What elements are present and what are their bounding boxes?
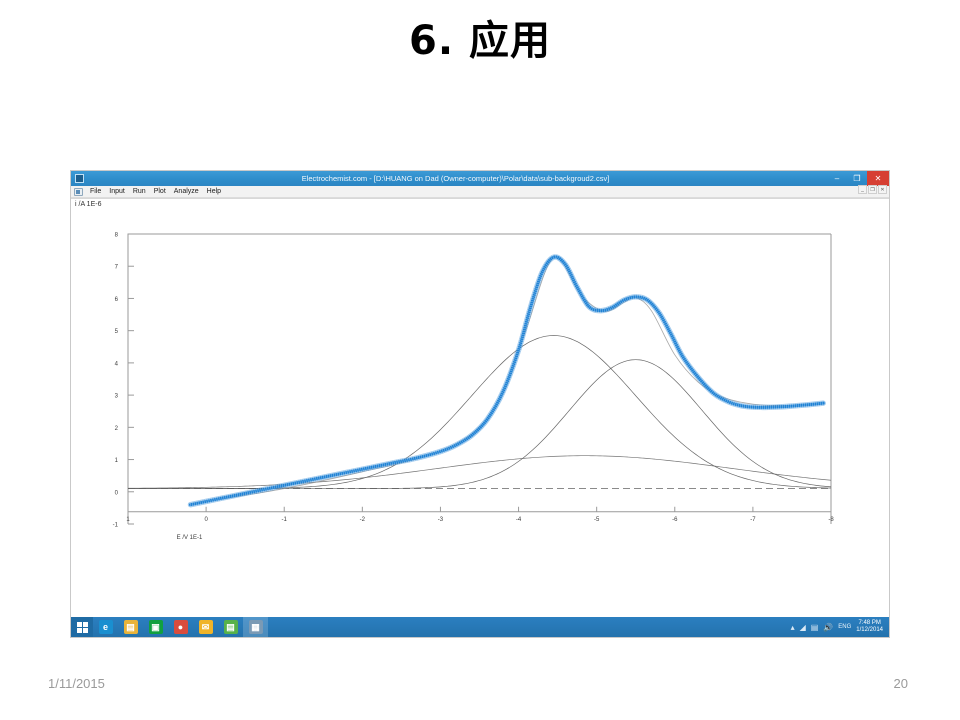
taskbar-item-windows-store[interactable]: ▣	[143, 617, 168, 637]
windows-logo-icon	[77, 622, 88, 633]
svg-text:2: 2	[115, 426, 119, 432]
plot-client-area: i /A 1E-6 -101234567810-1-2-3-4-5-6-7-8E…	[71, 198, 889, 618]
taskbar-item-electrochemist[interactable]: ▦	[243, 617, 268, 637]
electrochemist-icon: ▦	[249, 620, 263, 634]
clock-date: 1/12/2014	[856, 627, 883, 633]
menu-item-help[interactable]: Help	[203, 188, 225, 195]
menu-item-analyze[interactable]: Analyze	[170, 188, 203, 195]
mdi-window-controls: _ ❐ ✕	[858, 185, 887, 194]
svg-text:7: 7	[115, 265, 119, 271]
taskbar-item-mail[interactable]: ✉	[193, 617, 218, 637]
store-icon: ▣	[149, 620, 163, 634]
svg-text:-5: -5	[594, 517, 600, 523]
svg-text:4: 4	[115, 361, 119, 367]
svg-text:-1: -1	[282, 517, 288, 523]
svg-text:-7: -7	[750, 517, 756, 523]
notes-icon: ▤	[224, 620, 238, 634]
close-button[interactable]: ✕	[867, 171, 889, 186]
page-title: 6. 应用	[0, 18, 960, 64]
svg-text:6: 6	[115, 297, 119, 303]
svg-text:3: 3	[115, 394, 119, 400]
window-title: Electrochemist.com - [D:\HUANG on Dad (O…	[84, 174, 827, 183]
svg-text:0: 0	[115, 490, 119, 496]
svg-text:-8: -8	[828, 517, 834, 523]
folder-icon: ▤	[124, 620, 138, 634]
menu-item-input[interactable]: Input	[105, 188, 129, 195]
document-icon	[74, 188, 83, 196]
minimize-button[interactable]: –	[827, 171, 847, 186]
mdi-close-button[interactable]: ✕	[878, 185, 887, 194]
start-button[interactable]	[71, 617, 93, 637]
taskbar-item-google-chrome[interactable]: ●	[168, 617, 193, 637]
svg-text:-6: -6	[672, 517, 678, 523]
show-hidden-icons-icon[interactable]: ▴	[791, 623, 795, 632]
slide-footer-date: 1/11/2015	[48, 676, 105, 691]
menu-item-plot[interactable]: Plot	[150, 188, 170, 195]
network-icon[interactable]: ◢	[800, 623, 806, 632]
volume-icon[interactable]: 🔊	[823, 623, 833, 632]
internet-explorer-icon: e	[99, 620, 113, 634]
polarogram-chart: -101234567810-1-2-3-4-5-6-7-8E /V 1E-1	[71, 199, 889, 619]
svg-text:1: 1	[115, 458, 119, 464]
svg-text:-1: -1	[113, 523, 119, 529]
svg-text:1: 1	[126, 517, 130, 523]
slide: 6. 应用 Electrochemist.com - [D:\HUANG on …	[0, 0, 960, 720]
mail-icon: ✉	[199, 620, 213, 634]
menu-item-run[interactable]: Run	[129, 188, 150, 195]
chrome-icon: ●	[174, 620, 188, 634]
app-icon	[75, 174, 84, 183]
restore-button[interactable]: ❐	[847, 171, 867, 186]
clock-time: 7:48 PM	[858, 620, 880, 626]
window-titlebar[interactable]: Electrochemist.com - [D:\HUANG on Dad (O…	[71, 171, 889, 186]
language-indicator[interactable]: ENG	[838, 624, 851, 630]
svg-text:8: 8	[115, 233, 119, 239]
system-tray: ▴ ◢ ▤ 🔊 ENG 7:48 PM 1/12/2014	[791, 620, 889, 635]
menubar: File Input Run Plot Analyze Help	[71, 186, 889, 198]
taskbar-item-internet-explorer[interactable]: e	[93, 617, 118, 637]
svg-text:-4: -4	[516, 517, 522, 523]
embedded-screenshot: Electrochemist.com - [D:\HUANG on Dad (O…	[70, 170, 890, 638]
taskbar-item-file-explorer[interactable]: ▤	[118, 617, 143, 637]
mdi-restore-button[interactable]: ❐	[868, 185, 877, 194]
taskbar-item-notes[interactable]: ▤	[218, 617, 243, 637]
taskbar-clock[interactable]: 7:48 PM 1/12/2014	[856, 620, 883, 635]
svg-text:0: 0	[204, 517, 208, 523]
svg-text:-2: -2	[360, 517, 366, 523]
windows-taskbar: e ▤ ▣ ● ✉ ▤ ▦ ▴ ◢ ▤ �	[71, 617, 889, 637]
svg-text:-3: -3	[438, 517, 444, 523]
menu-item-file[interactable]: File	[86, 188, 105, 195]
window-controls: – ❐ ✕	[827, 171, 889, 186]
action-center-icon[interactable]: ▤	[811, 623, 819, 632]
slide-page-number: 20	[894, 676, 908, 691]
svg-text:E /V 1E-1: E /V 1E-1	[177, 535, 203, 541]
svg-text:5: 5	[115, 329, 119, 335]
mdi-minimize-button[interactable]: _	[858, 185, 867, 194]
